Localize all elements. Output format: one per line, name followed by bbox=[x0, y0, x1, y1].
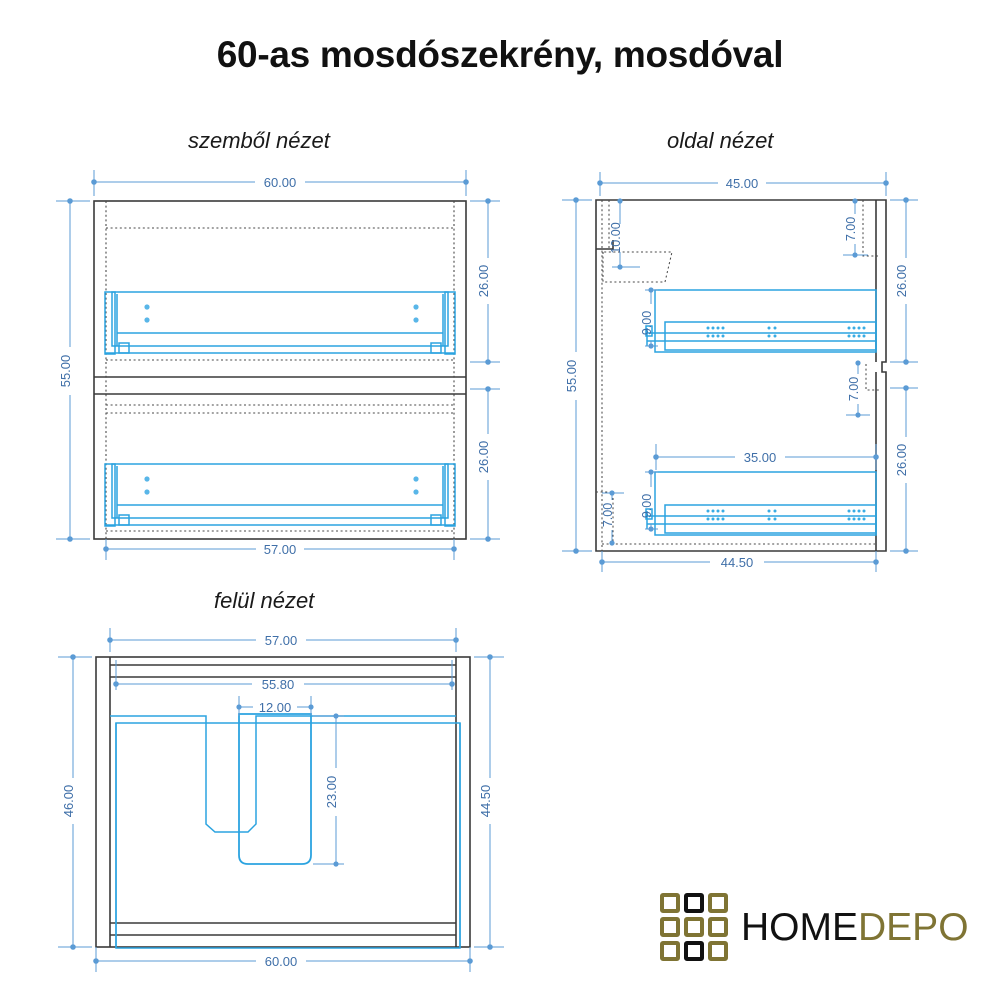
top-dim-bottom-width: 60.00 bbox=[265, 954, 298, 969]
top-dim-left-depth: 46.00 bbox=[61, 785, 76, 818]
top-dim-board-width: 55.80 bbox=[262, 677, 295, 692]
top-dim-right-depth: 44.50 bbox=[478, 785, 493, 818]
logo-square bbox=[660, 893, 680, 913]
logo-square bbox=[708, 917, 728, 937]
logo-square bbox=[708, 941, 728, 961]
logo-square bbox=[660, 917, 680, 937]
logo-square bbox=[660, 941, 680, 961]
logo-square bbox=[684, 917, 704, 937]
drawing-page: 60-as mosdószekrény, mosdóval szemből né… bbox=[0, 0, 1000, 1000]
sink-cutout bbox=[239, 714, 311, 864]
brand-wordmark: HOMEDEPO bbox=[741, 908, 969, 947]
logo-square bbox=[684, 893, 704, 913]
top-dim-cutout-width: 12.00 bbox=[259, 700, 292, 715]
brand-name-part1: HOME bbox=[741, 906, 858, 949]
top-counter-outline bbox=[110, 716, 460, 948]
top-view-drawing: 57.00 55.80 12.00 23.00 46.00 44.50 60.0… bbox=[0, 0, 1000, 1000]
brand-logo: HOMEDEPO bbox=[660, 893, 969, 961]
grid-squares-logo-icon bbox=[660, 893, 728, 961]
brand-name-part2: DEPO bbox=[858, 906, 969, 949]
logo-square bbox=[708, 893, 728, 913]
top-dim-inner-width: 57.00 bbox=[265, 633, 298, 648]
top-dim-cutout-depth: 23.00 bbox=[324, 776, 339, 809]
logo-square bbox=[684, 941, 704, 961]
